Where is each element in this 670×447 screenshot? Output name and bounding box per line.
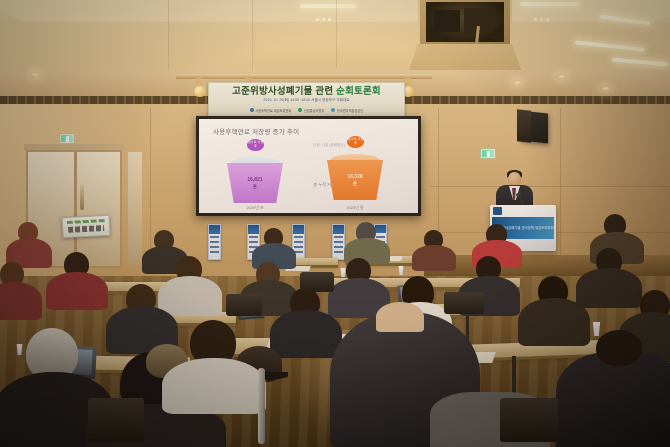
bin-caption-2023: 2023년 말 — [325, 205, 385, 211]
logo-mark — [331, 108, 335, 112]
attendee-body-foreground — [556, 352, 670, 447]
ceiling-seam — [336, 0, 337, 68]
recessed-light — [512, 80, 523, 85]
door-handle[interactable] — [80, 184, 84, 210]
wall-panel-seam — [150, 108, 151, 268]
exit-sign-face — [61, 135, 73, 142]
registration-signboard — [61, 215, 110, 238]
banner-logo-label: 산업통상자원부 — [304, 108, 325, 113]
bin-unit-2020: 톤 — [227, 184, 283, 190]
exit-sign-left — [59, 133, 75, 144]
attendee-body — [0, 282, 42, 320]
chair-back — [300, 272, 334, 292]
bin-body — [327, 160, 383, 200]
recessed-light — [30, 72, 41, 77]
attendee-body — [412, 245, 456, 271]
banner-finial — [194, 86, 206, 97]
ceiling-light-strip — [300, 4, 356, 8]
logo-mark — [250, 108, 254, 112]
running-man-icon — [487, 151, 490, 157]
table-placard — [208, 224, 221, 260]
placard-header — [333, 225, 344, 234]
bin-value-2023: 18,328 — [327, 174, 383, 180]
logo-mark — [298, 108, 302, 112]
banner-logo: 한국원자력환경공단 — [331, 108, 363, 113]
ceiling-light-strip — [520, 2, 580, 6]
placard-header — [293, 225, 304, 234]
slide-bin-pill-2020: 경수로 사용후 — [247, 139, 264, 151]
placard-text — [210, 236, 219, 256]
banner-logo-label: 사용후핵연료 재검토위원회 — [255, 108, 291, 113]
banner-rail — [176, 74, 432, 79]
ceiling-downlights — [316, 18, 332, 21]
running-man-icon — [66, 136, 69, 142]
attendee-body — [518, 298, 590, 346]
placard-text — [334, 236, 343, 256]
chair-back — [88, 398, 144, 442]
exit-sign-right — [480, 148, 496, 159]
projection-screen-frame: 사용후핵연료 저장량 증가 추이 단위: 다발 (중량환산) 총 누적 저장량 … — [196, 116, 421, 216]
chair-back — [444, 292, 484, 314]
chair-back — [226, 294, 262, 316]
event-banner: 고준위방사성폐기물 관련 순회토론회 2019. 10. 29(화) 14:00… — [208, 82, 405, 117]
placard-header — [375, 225, 386, 233]
attendee-body — [270, 310, 342, 358]
attendee-body — [162, 358, 266, 414]
bin-value-2020: 16,821 — [227, 177, 283, 183]
recessed-light — [600, 86, 611, 91]
signboard-text-line — [68, 225, 104, 233]
attendee-head — [596, 330, 642, 366]
slide-side-note: 단위: 다발 (중량환산) — [309, 143, 349, 148]
banner-title: 고준위방사성폐기물 관련 순회토론회 — [209, 86, 404, 97]
bin-caption-2020: 2020년 초 — [225, 205, 285, 211]
banner-subtitle: 2019. 10. 29(화) 14:00~16:00 서울시 영등포구 국회대… — [209, 98, 404, 103]
exit-sign-face — [482, 150, 494, 157]
banner-logo: 산업통상자원부 — [298, 108, 324, 113]
conference-hall-photo: 고준위방사성폐기물 관련 순회토론회 2019. 10. 29(화) 14:00… — [0, 0, 670, 447]
attendee-body — [46, 272, 108, 310]
projector-device — [434, 10, 460, 32]
door-leaf-gap — [74, 152, 77, 266]
attendee-bald-head — [376, 302, 424, 332]
attendee-body — [576, 268, 642, 308]
recessed-light — [556, 74, 567, 79]
banner-title-accent: 순회토론회 — [336, 86, 381, 97]
banner-logo-row: 사용후핵연료 재검토위원회 산업통상자원부 한국원자력환경공단 — [209, 106, 404, 114]
signboard-text-line — [67, 219, 105, 224]
placard-header — [209, 225, 220, 234]
door-side-panel — [128, 152, 142, 264]
attendee-body — [158, 276, 222, 316]
wall-loudspeaker-side — [517, 109, 531, 142]
placard-header — [248, 225, 259, 234]
projection-screen: 사용후핵연료 저장량 증가 추이 단위: 다발 (중량환산) 총 누적 저장량 … — [199, 119, 418, 213]
banner-title-main: 고준위방사성폐기물 관련 — [232, 86, 333, 97]
banner-logo-label: 한국원자력환경공단 — [337, 108, 363, 113]
slide-bin-2023: 18,328 톤 — [327, 154, 383, 200]
umbrella — [258, 368, 265, 444]
ceiling-seam — [252, 0, 253, 70]
ceiling-seam — [168, 0, 169, 72]
slide-bin-pill-2023: 중수로 사용후 — [347, 136, 364, 148]
slide-title: 사용후핵연료 저장량 증가 추이 — [213, 126, 299, 136]
ceiling-downlights — [534, 18, 550, 21]
organization-logo — [493, 207, 502, 215]
banner-logo: 사용후핵연료 재검토위원회 — [250, 108, 292, 113]
bin-body — [227, 163, 283, 203]
bin-unit-2023: 톤 — [327, 181, 383, 187]
slide-bin-2020: 16,821 톤 — [227, 157, 283, 203]
chair-back — [500, 398, 558, 442]
